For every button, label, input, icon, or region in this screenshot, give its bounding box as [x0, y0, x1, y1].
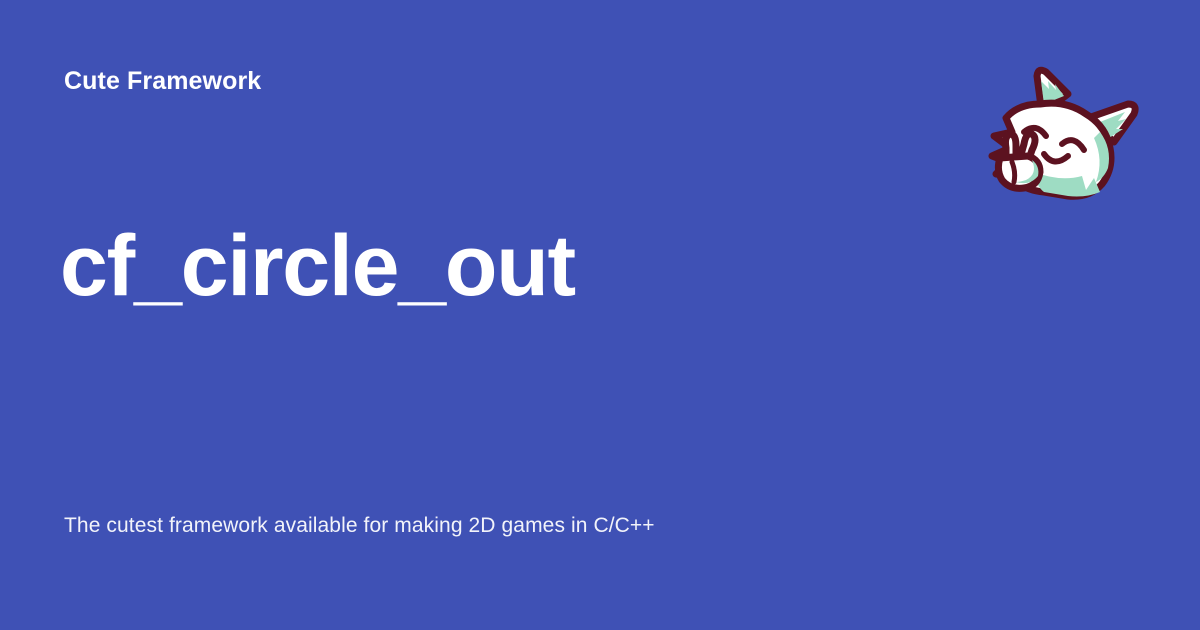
cute-framework-cat-logo	[982, 56, 1148, 208]
cat-paw-peace-sign	[998, 134, 1040, 189]
site-name: Cute Framework	[64, 66, 261, 96]
og-card: Cute Framework cf_circle_out The cutest …	[0, 0, 1200, 630]
page-title: cf_circle_out	[60, 221, 575, 311]
tagline: The cutest framework available for makin…	[64, 512, 655, 539]
cat-logo-icon	[982, 56, 1148, 208]
